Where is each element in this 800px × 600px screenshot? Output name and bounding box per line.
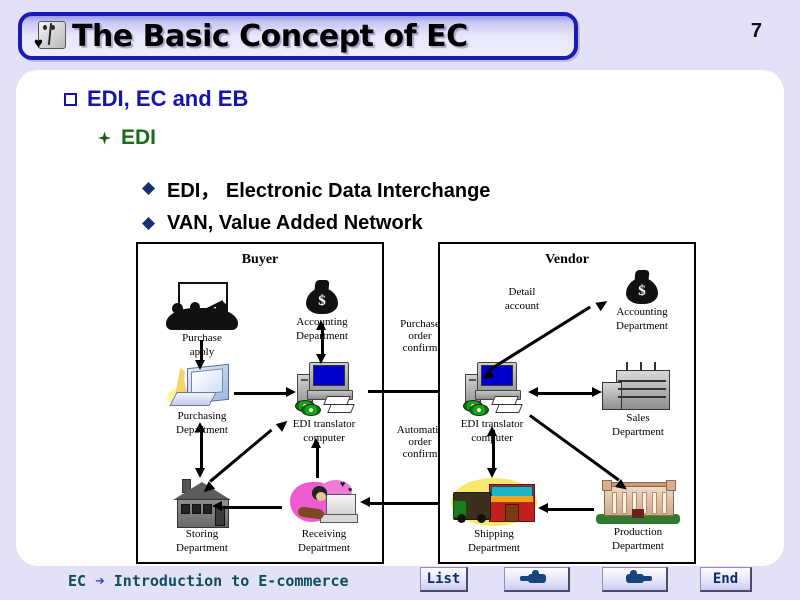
bullet-level1-label: EDI, EC and EB	[87, 86, 248, 112]
documents-icon	[491, 396, 525, 416]
documents-icon	[323, 396, 357, 416]
node-storing-department: Storing Department	[162, 482, 242, 554]
diamond-sparkle-bullet-icon	[98, 132, 111, 145]
arrow-line	[209, 429, 272, 482]
hand-left-icon	[524, 572, 550, 586]
bullet-level3-label-2: VAN, Value Added Network	[167, 212, 423, 235]
list-button-label: List	[427, 571, 461, 587]
node-caption: Storing	[162, 528, 242, 540]
node-shipping-department: Shipping Department	[448, 478, 540, 554]
arrow-head	[360, 497, 370, 507]
arrow-head	[487, 426, 497, 436]
previous-button[interactable]	[504, 567, 570, 592]
arrow-head	[195, 360, 205, 370]
content-area: EDI, EC and EB EDI EDI， Electronic Data …	[16, 70, 784, 566]
person-at-pc-icon: ♥♥	[290, 480, 358, 526]
arrow-head	[311, 438, 321, 448]
buyer-panel-title: Buyer	[138, 252, 382, 268]
arrow-line	[200, 426, 203, 472]
end-button[interactable]: End	[700, 567, 752, 592]
node-caption: Department	[448, 542, 540, 554]
cd-disks-icon	[463, 400, 489, 414]
truck-store-icon	[451, 478, 537, 526]
footer-course-title: Introduction to E-commerce	[114, 572, 349, 590]
cd-disks-icon	[295, 400, 321, 414]
arrow-line	[536, 392, 594, 395]
node-caption: Production	[590, 526, 686, 538]
node-caption: Purchasing	[160, 410, 244, 422]
node-caption: Department	[280, 542, 368, 554]
arrow-head	[528, 387, 538, 397]
arrow-line	[492, 430, 495, 472]
hand-right-icon	[622, 572, 648, 586]
money-bag-icon: $	[304, 280, 340, 314]
bullet-level3-item-2: VAN, Value Added Network	[142, 212, 423, 235]
factory-icon	[596, 480, 680, 524]
vendor-panel: Vendor Detail account $ Accounting Depar…	[438, 242, 696, 564]
arrow-head	[195, 468, 205, 478]
node-caption: Receiving	[280, 528, 368, 540]
meeting-icon	[166, 282, 238, 330]
money-bag-icon: $	[624, 270, 660, 304]
diamond-bullet-icon	[142, 217, 155, 230]
arrow-line	[200, 340, 203, 362]
node-caption: Sales	[592, 412, 684, 424]
node-caption: Shipping	[448, 528, 540, 540]
footer-course-label: EC ➔ Introduction to E-commerce	[68, 571, 349, 590]
desktop-pc-icon	[171, 366, 233, 408]
node-caption: Detail	[492, 286, 552, 298]
arrow-line	[489, 306, 590, 371]
arrow-line	[234, 392, 288, 395]
node-caption: Accounting	[602, 306, 682, 318]
bullet-level2-label: EDI	[121, 126, 156, 150]
node-caption: account	[492, 300, 552, 312]
node-caption: Department	[162, 542, 242, 554]
arrow-head	[316, 354, 326, 364]
next-button[interactable]	[602, 567, 668, 592]
arrow-head	[286, 387, 296, 397]
arrow-line	[546, 508, 594, 511]
slide: ♥ The Basic Concept of EC 7 EDI, EC and …	[0, 0, 800, 600]
node-caption: Department	[590, 540, 686, 552]
arrow-head	[487, 468, 497, 478]
node-caption: Department	[602, 320, 682, 332]
list-button[interactable]: List	[420, 567, 468, 592]
edi-flow-diagram: Buyer Purchase apply $ Accou	[136, 242, 696, 564]
office-building-icon	[602, 366, 674, 410]
node-production-department: Production Department	[590, 480, 686, 552]
page-number: 7	[751, 20, 762, 43]
node-edi-translator-computer: EDI translator computer	[278, 362, 370, 444]
arrow-line	[220, 506, 282, 509]
bullet-level3-item-1: EDI， Electronic Data Interchange	[142, 174, 490, 203]
title-bar: ♥ The Basic Concept of EC	[18, 12, 578, 60]
node-sales-department: Sales Department	[592, 366, 684, 438]
node-accounting-department: $ Accounting Department	[602, 270, 682, 332]
arrow-head	[195, 422, 205, 432]
computer-icon	[297, 362, 351, 402]
buyer-panel: Buyer Purchase apply $ Accou	[136, 242, 384, 564]
page-title: The Basic Concept of EC	[72, 19, 468, 54]
vendor-panel-title: Vendor	[440, 252, 694, 268]
right-arrow-icon: ➔	[95, 571, 105, 590]
footer-course-code: EC	[68, 572, 86, 590]
bullet-level1: EDI, EC and EB	[64, 86, 248, 112]
node-caption: Department	[592, 426, 684, 438]
node-caption: computer	[278, 432, 370, 444]
arrow-head	[538, 503, 548, 513]
mac-face-icon: ♥	[30, 18, 70, 54]
bullet-level2: EDI	[98, 126, 156, 150]
node-caption: EDI translator	[278, 418, 370, 430]
label-detail-account: Detail account	[492, 284, 552, 312]
square-bullet-icon	[64, 93, 77, 106]
arrow-head	[592, 387, 602, 397]
arrow-head	[212, 501, 222, 511]
node-receiving-department: ♥♥ Receiving Department	[280, 480, 368, 554]
end-button-label: End	[713, 571, 738, 587]
bullet-level3-label-1: EDI， Electronic Data Interchange	[167, 174, 490, 203]
diamond-bullet-icon	[142, 182, 155, 195]
arrow-head	[316, 320, 326, 330]
